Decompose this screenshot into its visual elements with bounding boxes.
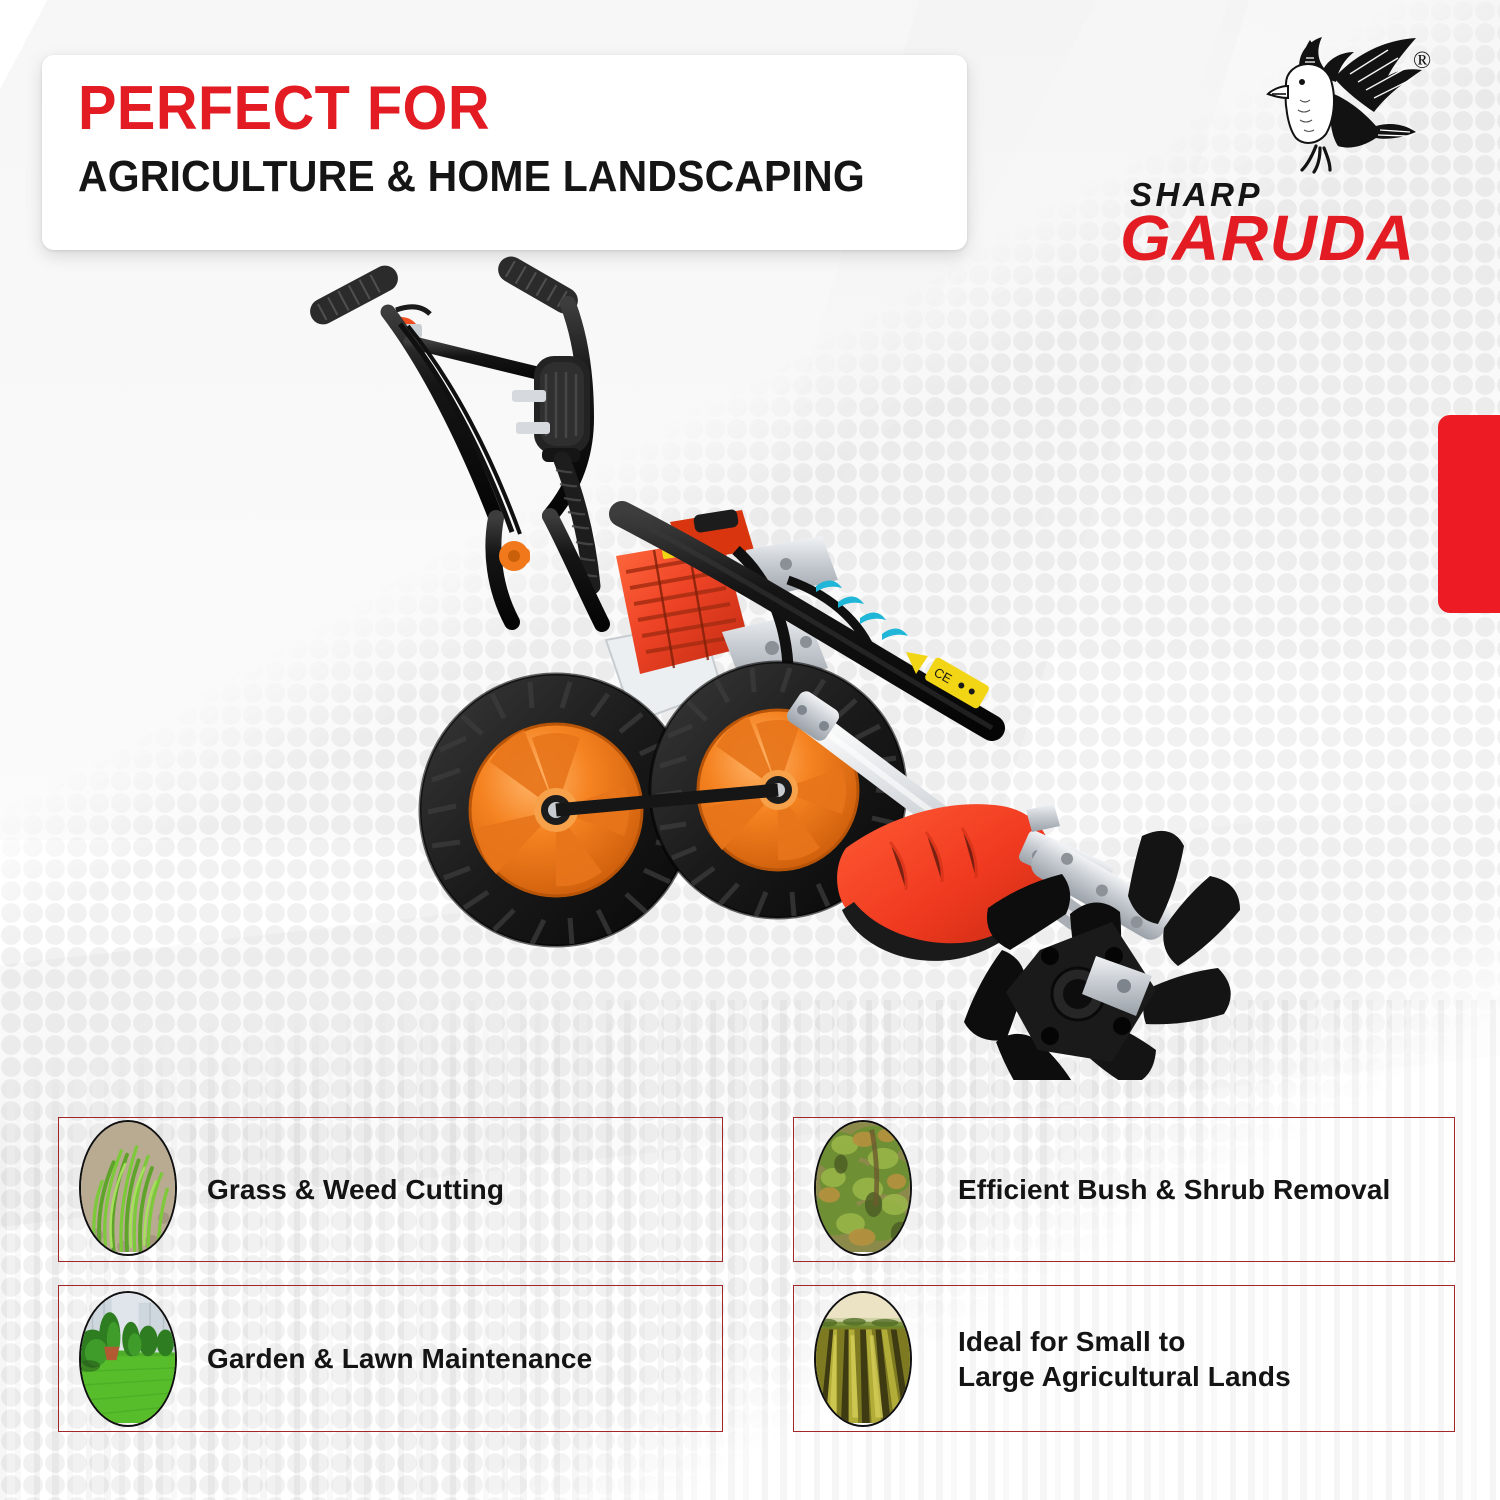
clamp-upper xyxy=(512,390,546,402)
clamp-lower xyxy=(516,422,550,434)
thumb-garden-lawn xyxy=(79,1291,177,1427)
handlebar-assembly xyxy=(306,252,602,624)
headline-primary: PERFECT FOR xyxy=(78,77,905,140)
thumb-bush-shrub xyxy=(814,1120,912,1256)
eagle-garuda-icon xyxy=(1238,34,1438,194)
red-side-tab xyxy=(1438,415,1500,613)
feature-label: Garden & Lawn Maintenance xyxy=(207,1341,592,1376)
registered-trademark-icon: ® xyxy=(1413,48,1431,75)
brand-logo: ® SHARP GARUDA xyxy=(1110,34,1465,269)
product-banner: PERFECT FOR AGRICULTURE & HOME LANDSCAPI… xyxy=(0,0,1500,1500)
thumb-agricultural-field xyxy=(814,1291,912,1427)
height-adjust-knob xyxy=(499,541,530,571)
air-filter-housing xyxy=(534,356,590,462)
feature-label: Grass & Weed Cutting xyxy=(207,1172,504,1207)
feature-card-agricultural-lands[interactable]: Ideal for Small toLarge Agricultural Lan… xyxy=(793,1285,1455,1432)
feature-card-garden-lawn-maintenance[interactable]: Garden & Lawn Maintenance xyxy=(58,1285,723,1432)
headline-secondary: AGRICULTURE & HOME LANDSCAPING xyxy=(78,154,905,201)
headline-panel: PERFECT FOR AGRICULTURE & HOME LANDSCAPI… xyxy=(42,55,967,250)
thumb-grass-weeds xyxy=(79,1120,177,1256)
feature-label: Efficient Bush & Shrub Removal xyxy=(958,1172,1390,1207)
feature-card-bush-shrub-removal[interactable]: Efficient Bush & Shrub Removal xyxy=(793,1117,1455,1262)
feature-label: Ideal for Small toLarge Agricultural Lan… xyxy=(958,1324,1291,1394)
feature-card-grass-weed-cutting[interactable]: Grass & Weed Cutting xyxy=(58,1117,723,1262)
product-photo-power-tiller: CE xyxy=(250,250,1330,1080)
